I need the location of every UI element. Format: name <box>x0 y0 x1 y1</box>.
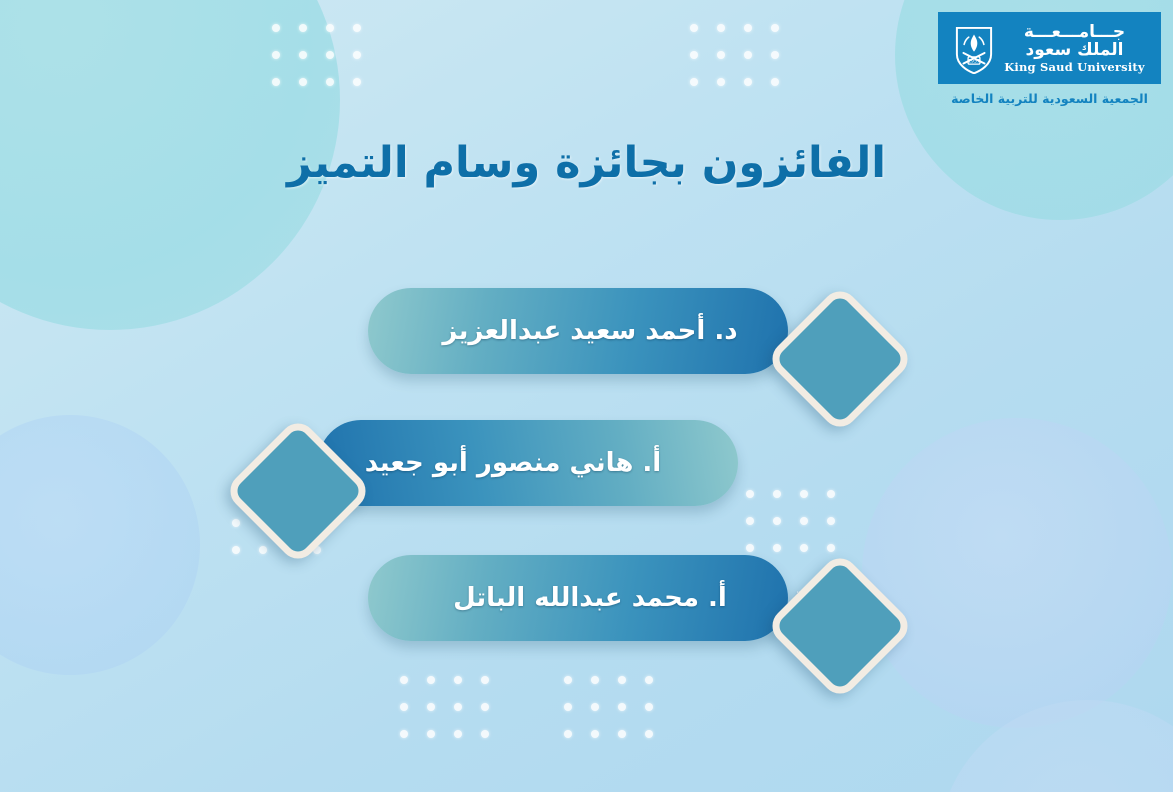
logo-wordmark: جـــامـــعـــة الملك سعود King Saud Univ… <box>1004 24 1145 74</box>
decorative-dot <box>771 24 779 32</box>
decorative-dot <box>272 24 280 32</box>
dot-grid-top-center <box>690 24 779 86</box>
decorative-dot <box>400 703 408 711</box>
decorative-dot <box>400 730 408 738</box>
winner-pill: أ. محمد عبدالله الباتل <box>368 555 788 641</box>
decorative-dot <box>591 730 599 738</box>
decorative-dot <box>690 78 698 86</box>
shield-year-label: 1957 <box>968 58 980 64</box>
decorative-dot <box>427 676 435 684</box>
decorative-dot <box>564 676 572 684</box>
logo-arabic-line-2: الملك سعود <box>1004 42 1145 59</box>
winner-pill: أ. هاني منصور أبو جعيد <box>318 420 738 506</box>
decorative-dot <box>717 51 725 59</box>
decorative-dot <box>299 24 307 32</box>
palm-and-swords-shield-icon: 1957 <box>954 24 994 74</box>
decorative-dot <box>400 676 408 684</box>
award-row: أ. محمد عبدالله الباتل فئةالمعلمينوالمعل… <box>0 545 1173 675</box>
decorative-dot <box>744 51 752 59</box>
dot-grid-top-left <box>272 24 361 86</box>
poster-canvas: 1957 جـــامـــعـــة الملك سعود King Saud… <box>0 0 1173 792</box>
logo-english-name: King Saud University <box>1004 62 1145 74</box>
decorative-dot <box>299 78 307 86</box>
decorative-dot <box>690 24 698 32</box>
decorative-dot <box>717 24 725 32</box>
decorative-dot <box>353 24 361 32</box>
winner-name: أ. محمد عبدالله الباتل <box>368 583 788 613</box>
decorative-dot <box>299 51 307 59</box>
decorative-dot <box>481 676 489 684</box>
decorative-dot <box>645 703 653 711</box>
decorative-dot <box>591 676 599 684</box>
decorative-dot <box>771 78 779 86</box>
winner-name: أ. هاني منصور أبو جعيد <box>318 448 738 478</box>
logo-box: 1957 جـــامـــعـــة الملك سعود King Saud… <box>938 12 1161 84</box>
decorative-dot <box>326 24 334 32</box>
winner-name: د. أحمد سعيد عبدالعزيز <box>368 316 788 346</box>
decorative-dot <box>427 703 435 711</box>
decorative-dot <box>771 51 779 59</box>
decorative-dot <box>717 78 725 86</box>
dot-grid-bottom-right <box>564 676 653 738</box>
decorative-circle-bottom-right-2 <box>938 700 1173 792</box>
decorative-dot <box>326 78 334 86</box>
winner-pill: د. أحمد سعيد عبدالعزيز <box>368 288 788 374</box>
decorative-dot <box>427 730 435 738</box>
decorative-dot <box>618 676 626 684</box>
decorative-dot <box>481 703 489 711</box>
decorative-dot <box>690 51 698 59</box>
award-row: د. أحمد سعيد عبدالعزيز فئةأعضاء هيئةالتد… <box>0 278 1173 408</box>
page-title: الفائزون بجائزة وسام التميز <box>0 138 1173 188</box>
society-caption: الجمعية السعودية للتربية الخاصة <box>938 91 1161 106</box>
decorative-dot <box>353 51 361 59</box>
decorative-dot <box>744 78 752 86</box>
award-row: أ. هاني منصور أبو جعيد فئةالمعلمينوالمعل… <box>0 410 1173 540</box>
category-badge <box>765 551 915 701</box>
decorative-dot <box>353 78 361 86</box>
decorative-dot <box>744 24 752 32</box>
decorative-dot <box>454 730 462 738</box>
logo-arabic-line-1: جـــامـــعـــة <box>1004 24 1145 41</box>
decorative-dot <box>454 676 462 684</box>
decorative-dot <box>326 51 334 59</box>
university-logo-block: 1957 جـــامـــعـــة الملك سعود King Saud… <box>938 12 1161 106</box>
dot-grid-bottom-left <box>400 676 489 738</box>
decorative-dot <box>618 730 626 738</box>
decorative-dot <box>564 703 572 711</box>
decorative-dot <box>272 78 280 86</box>
decorative-dot <box>645 676 653 684</box>
decorative-dot <box>481 730 489 738</box>
decorative-dot <box>454 703 462 711</box>
decorative-dot <box>591 703 599 711</box>
decorative-dot <box>564 730 572 738</box>
decorative-dot <box>645 730 653 738</box>
decorative-dot <box>272 51 280 59</box>
decorative-dot <box>618 703 626 711</box>
